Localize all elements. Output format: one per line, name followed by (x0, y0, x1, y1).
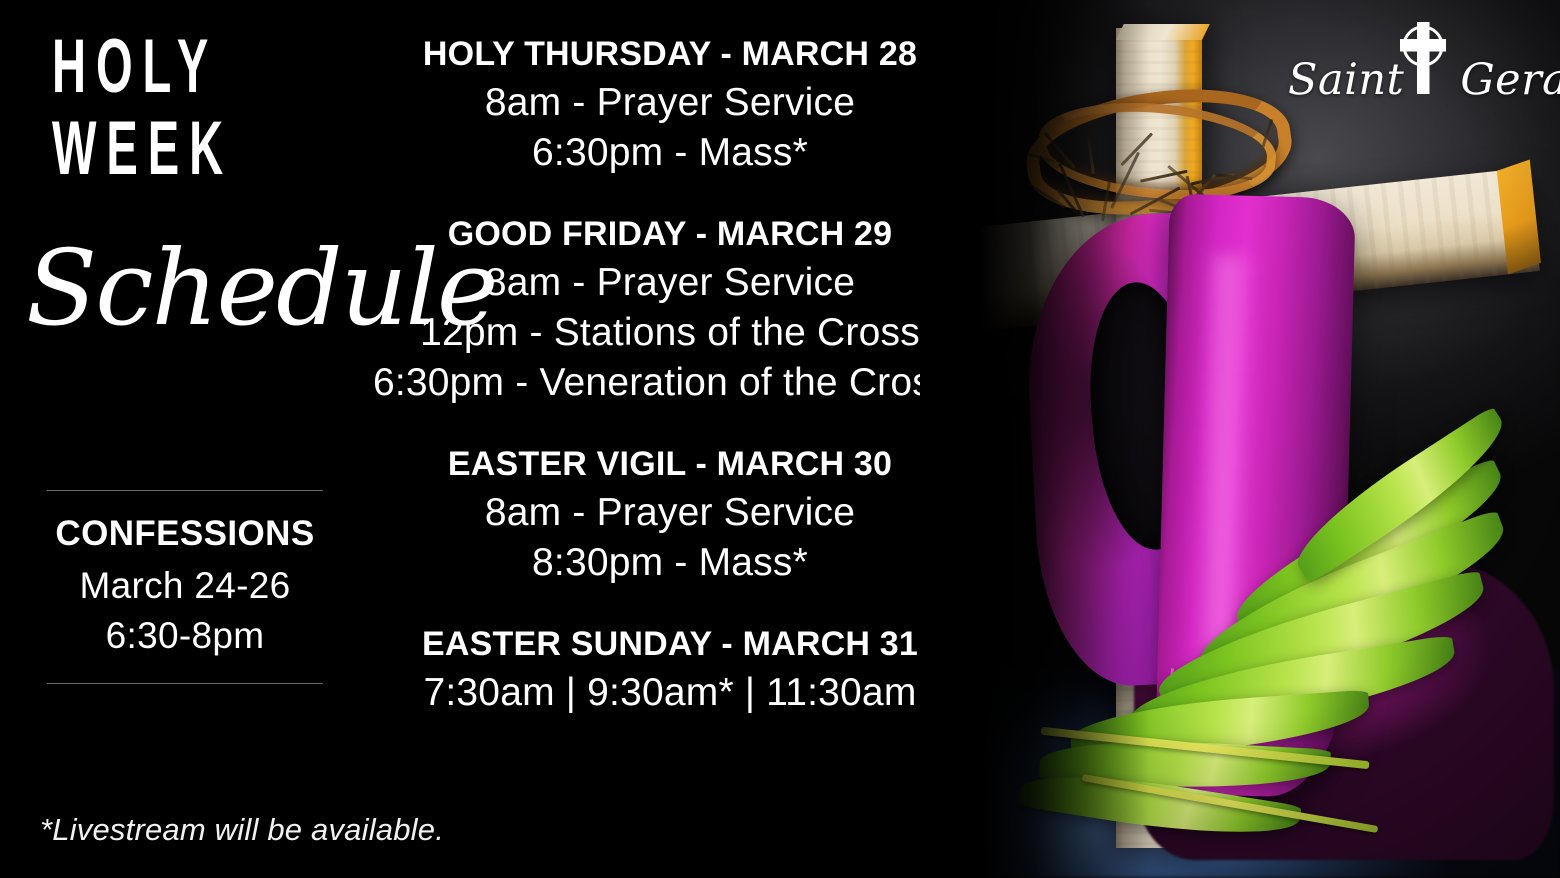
confessions-block: CONFESSIONS March 24-26 6:30-8pm (47, 490, 323, 684)
page-title-line1: HOLY (52, 26, 233, 108)
schedule-section-line: 8am - Prayer Service (345, 488, 995, 538)
schedule-section-line: 7:30am | 9:30am* | 11:30am (345, 668, 995, 718)
cross-photograph (920, 0, 1560, 878)
schedule-section-heading: HOLY THURSDAY - MARCH 28 (345, 30, 995, 78)
schedule-section: GOOD FRIDAY - MARCH 298am - Prayer Servi… (345, 210, 995, 408)
schedule-section: HOLY THURSDAY - MARCH 288am - Prayer Ser… (345, 30, 995, 178)
schedule-section: EASTER SUNDAY - MARCH 317:30am | 9:30am*… (345, 620, 995, 718)
schedule-section-heading: EASTER VIGIL - MARCH 30 (345, 440, 995, 488)
livestream-footnote: *Livestream will be available. (40, 812, 444, 848)
logo-wordmark: SaintGerald (1288, 54, 1538, 106)
upright-top-face (1116, 24, 1210, 40)
confessions-dates: March 24-26 (47, 561, 323, 611)
schedule-section-line: 6:30pm - Mass* (345, 128, 995, 178)
confessions-rule-bottom (47, 683, 323, 684)
logo-word-before: Saint (1288, 55, 1404, 105)
confessions-times: 6:30-8pm (47, 611, 323, 661)
confessions-rule-top (47, 490, 323, 491)
saint-gerald-logo[interactable]: SaintGerald (1288, 18, 1538, 126)
schedule-section-heading: EASTER SUNDAY - MARCH 31 (345, 620, 995, 668)
schedule-section-line: 8:30pm - Mass* (345, 538, 995, 588)
page-title: HOLY WEEK (52, 26, 233, 190)
schedule-section-heading: GOOD FRIDAY - MARCH 29 (345, 210, 995, 258)
confessions-title: CONFESSIONS (47, 513, 323, 555)
schedule-section-line: 12pm - Stations of the Cross (345, 308, 995, 358)
holy-week-poster: SaintGerald HOLY WEEK Schedule CONFESSIO… (0, 0, 1560, 878)
schedule-list: HOLY THURSDAY - MARCH 288am - Prayer Ser… (345, 30, 995, 718)
crown-of-thorns-icon (1026, 92, 1292, 212)
page-title-line2: WEEK (52, 108, 233, 190)
schedule-section-line: 8am - Prayer Service (345, 258, 995, 308)
schedule-section-line: 8am - Prayer Service (345, 78, 995, 128)
schedule-section: EASTER VIGIL - MARCH 308am - Prayer Serv… (345, 440, 995, 588)
logo-word-after: Gerald (1460, 55, 1560, 105)
schedule-section-line: 6:30pm - Veneration of the Cross* (345, 358, 995, 408)
